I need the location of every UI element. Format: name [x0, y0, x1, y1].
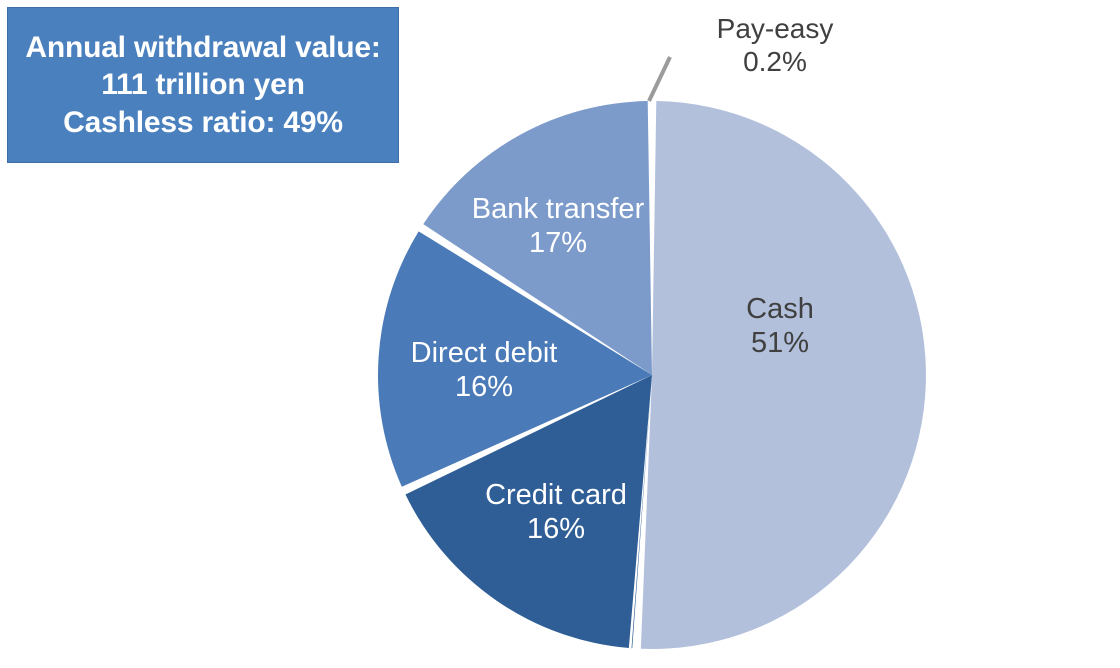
- chart-canvas: Annual withdrawal value: 111 trillion ye…: [0, 0, 1120, 668]
- pie-slice-group: [378, 101, 926, 649]
- pay-easy-leader-line: [649, 57, 670, 101]
- pie-chart: [0, 0, 1120, 668]
- pie-slice-cash[interactable]: [641, 101, 926, 649]
